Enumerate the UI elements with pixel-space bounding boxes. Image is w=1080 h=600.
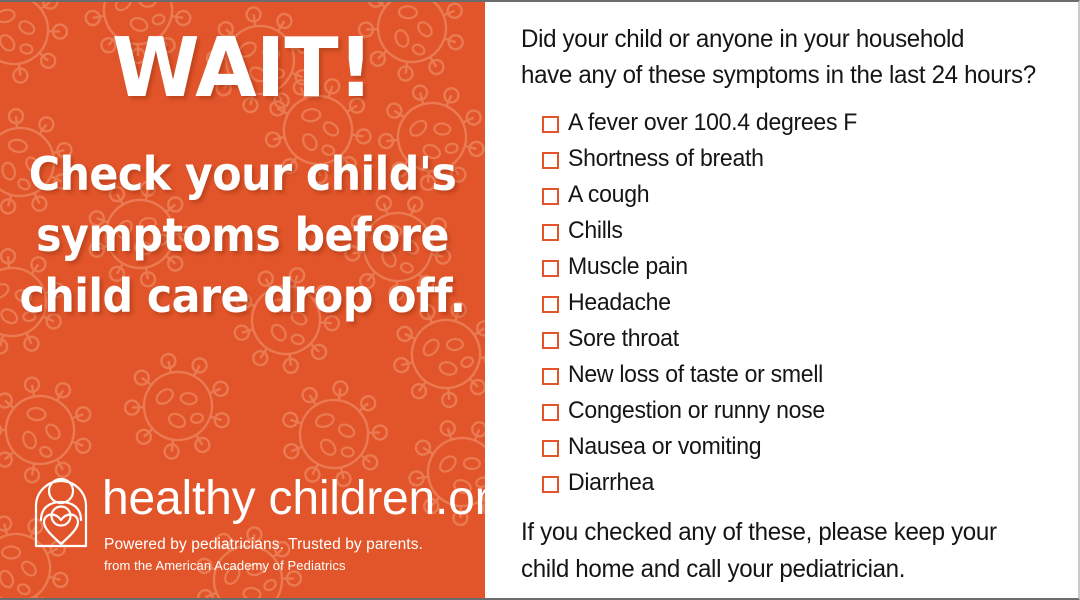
list-item[interactable]: Nausea or vomiting — [542, 429, 1062, 465]
footer-line-1: If you checked any of these, please keep… — [521, 514, 1050, 551]
healthychildren-logo[interactable]: healthy children.org Powered by pediatri… — [24, 474, 474, 584]
wait-headline: WAIT! — [7, 26, 477, 112]
subhead-line-2: symptoms before — [36, 208, 449, 262]
checkbox-icon[interactable] — [542, 404, 559, 421]
symptom-label: Diarrhea — [568, 468, 654, 498]
checkbox-icon[interactable] — [542, 152, 559, 169]
list-item[interactable]: A fever over 100.4 degrees F — [542, 105, 1062, 141]
left-orange-panel: WAIT! Check your child's symptoms before… — [0, 2, 485, 600]
checkbox-icon[interactable] — [542, 440, 559, 457]
symptom-label: New loss of taste or smell — [568, 360, 823, 390]
symptom-label: A cough — [568, 180, 649, 210]
checkbox-icon[interactable] — [542, 368, 559, 385]
question-line-2: have any of these symptoms in the last 2… — [521, 57, 1050, 93]
right-white-panel: Did your child or anyone in your househo… — [485, 2, 1078, 600]
symptom-label: Shortness of breath — [568, 144, 764, 174]
list-item[interactable]: New loss of taste or smell — [542, 357, 1062, 393]
list-item[interactable]: Sore throat — [542, 321, 1062, 357]
healthychildren-family-house-icon — [30, 476, 92, 548]
subhead-line-1: Check your child's — [29, 147, 457, 201]
checkbox-icon[interactable] — [542, 332, 559, 349]
symptom-label: Sore throat — [568, 324, 679, 354]
checkbox-icon[interactable] — [542, 476, 559, 493]
checkbox-icon[interactable] — [542, 296, 559, 313]
subhead-line-3: child care drop off. — [20, 269, 466, 323]
symptom-label: Chills — [568, 216, 623, 246]
checkbox-icon[interactable] — [542, 224, 559, 241]
list-item[interactable]: Chills — [542, 213, 1062, 249]
symptom-label: Nausea or vomiting — [568, 432, 761, 462]
subhead-block: Check your child's symptoms before child… — [17, 144, 468, 327]
list-item[interactable]: Headache — [542, 285, 1062, 321]
poster-root: WAIT! Check your child's symptoms before… — [0, 0, 1080, 600]
list-item[interactable]: Muscle pain — [542, 249, 1062, 285]
list-item[interactable]: Shortness of breath — [542, 141, 1062, 177]
symptom-checklist: A fever over 100.4 degrees F Shortness o… — [542, 105, 1062, 501]
list-item[interactable]: Diarrhea — [542, 465, 1062, 501]
logo-tagline: Powered by pediatricians. Trusted by par… — [104, 536, 423, 554]
logo-source-line: from the American Academy of Pediatrics — [104, 558, 346, 573]
screening-question: Did your child or anyone in your househo… — [521, 21, 1069, 93]
symptom-label: Congestion or runny nose — [568, 396, 825, 426]
footer-line-2: child home and call your pediatrician. — [521, 551, 1050, 588]
checkbox-icon[interactable] — [542, 188, 559, 205]
question-line-1: Did your child or anyone in your househo… — [521, 21, 1050, 57]
checkbox-icon[interactable] — [542, 116, 559, 133]
list-item[interactable]: A cough — [542, 177, 1062, 213]
list-item[interactable]: Congestion or runny nose — [542, 393, 1062, 429]
logo-wordmark: healthy children.org — [102, 472, 485, 526]
symptom-label: Headache — [568, 288, 671, 318]
symptom-label: A fever over 100.4 degrees F — [568, 108, 857, 138]
footer-instruction: If you checked any of these, please keep… — [521, 514, 1069, 588]
symptom-label: Muscle pain — [568, 252, 688, 282]
checkbox-icon[interactable] — [542, 260, 559, 277]
